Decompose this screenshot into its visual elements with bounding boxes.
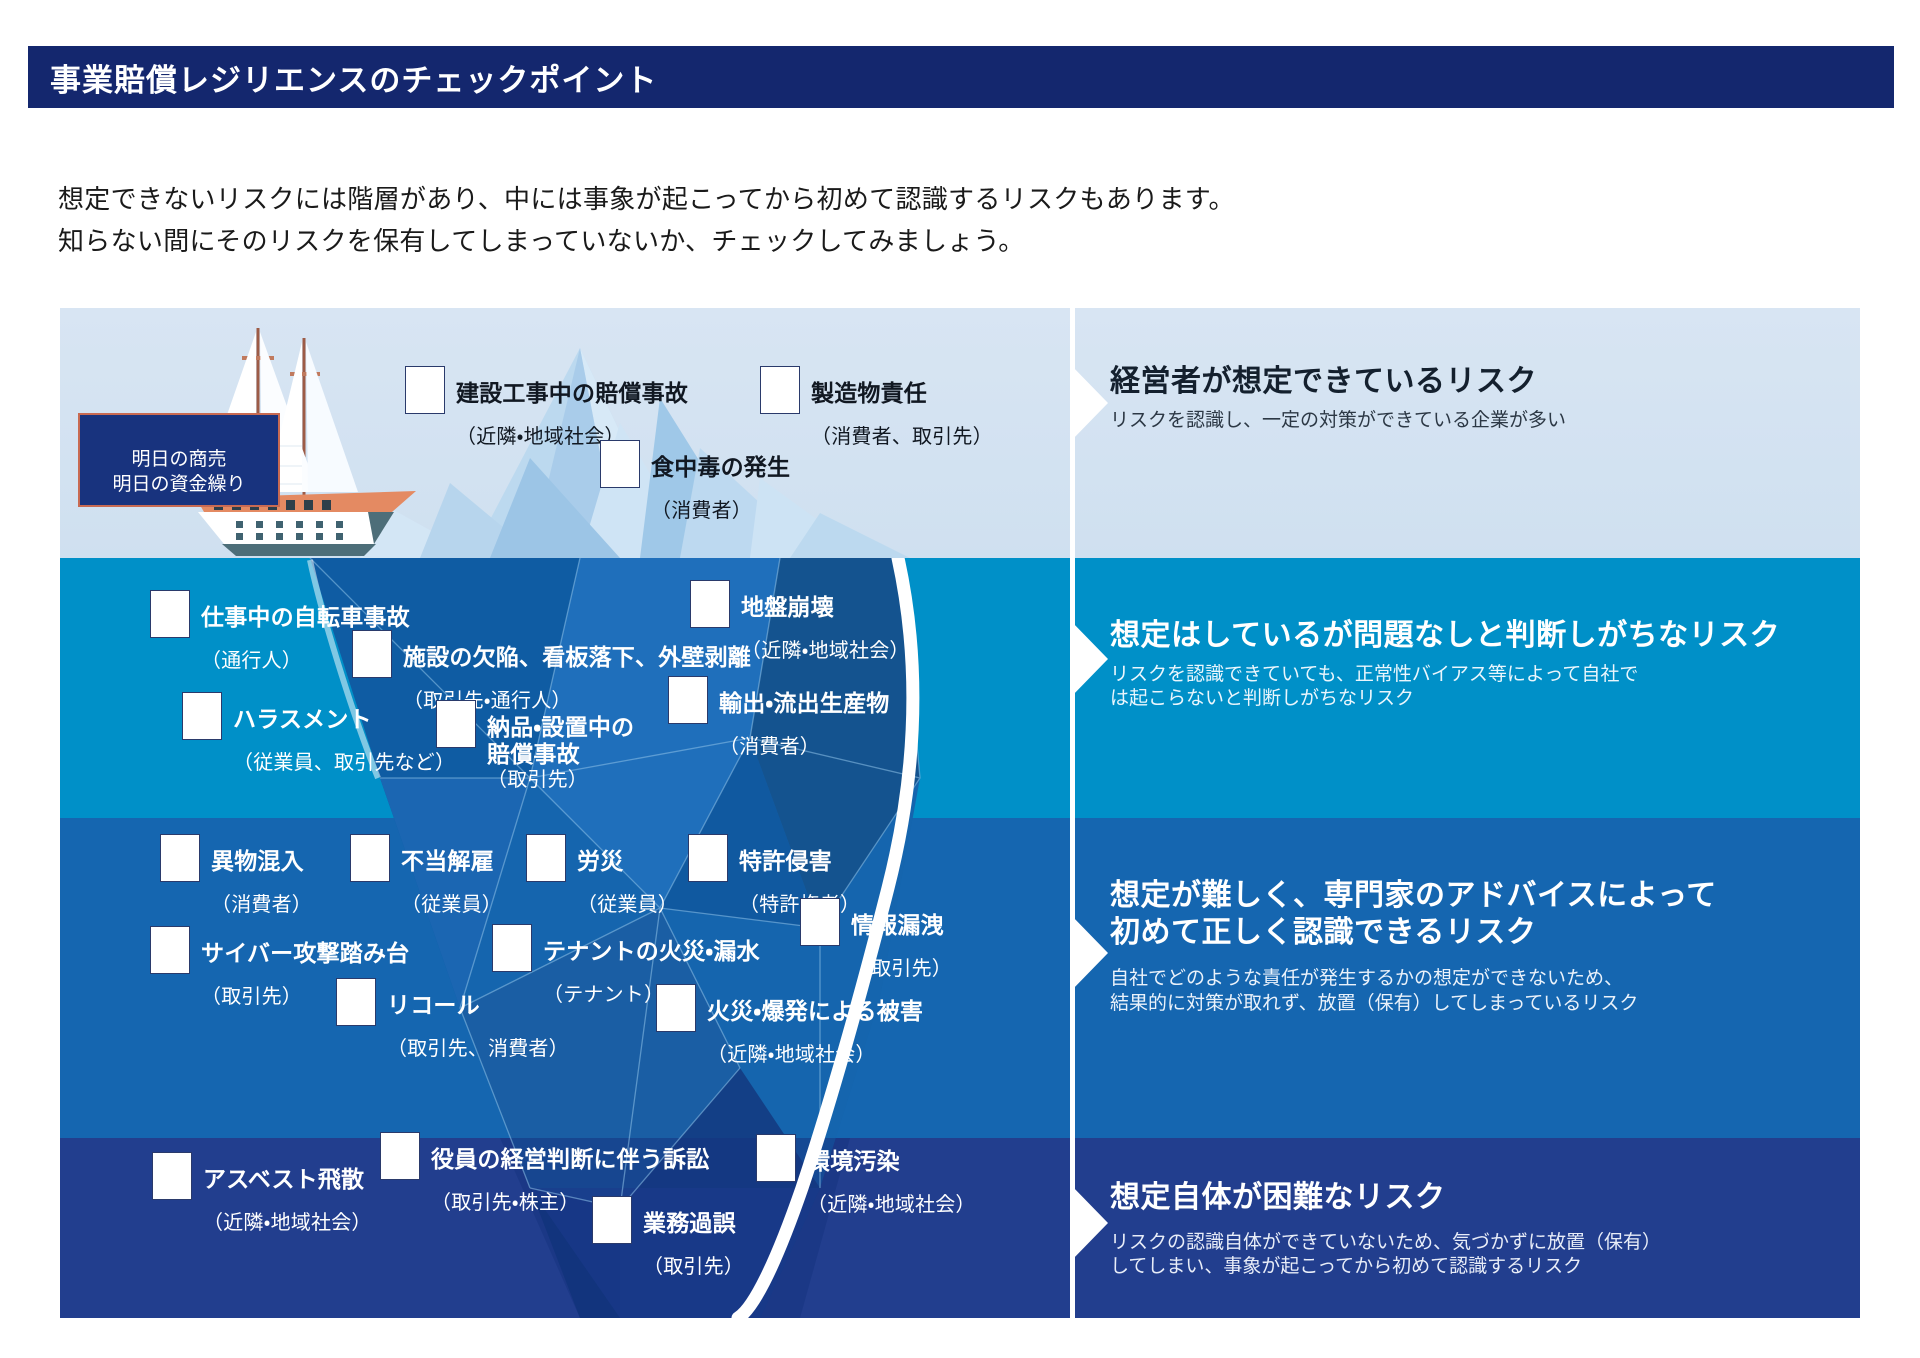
checkbox-item-recall[interactable]: リコール （取引先、消費者） (336, 974, 569, 1062)
item-label: 食中毒の発生 (651, 454, 790, 480)
checkbox-icon[interactable] (160, 834, 200, 882)
item-label: ハラスメント (233, 706, 372, 732)
checkbox-item-export-outflow-products[interactable]: 輸出・流出生産物 （消費者） (668, 672, 889, 760)
item-sublabel: （取引先） (851, 958, 952, 980)
chevron-right-icon (1070, 1184, 1110, 1262)
item-sublabel: （取引先） (487, 769, 588, 791)
checkbox-item-fire-explosion-damage[interactable]: 火災・爆発による被害 （近隣・地域社会） (656, 980, 923, 1068)
intro-text-block: 想定できないリスクには階層があり、中には事象が起こってから初めて認識するリスクも… (58, 178, 1558, 262)
item-label: 情報漏洩 (851, 912, 944, 938)
item-label: 役員の経営判断に伴う訴訟 (431, 1146, 709, 1172)
item-sublabel: （取引先・株主） (431, 1192, 579, 1214)
page-header-bar: 事業賠償レジリエンスのチェックポイント (28, 46, 1894, 108)
chevron-right-icon (1070, 364, 1110, 442)
tier-description-recognized: 経営者が想定できているリスク リスクを認識し、一定の対策ができている企業が多い (1110, 364, 1850, 433)
intro-line-1: 想定できないリスクには階層があり、中には事象が起こってから初めて認識するリスクも… (58, 178, 1558, 220)
intro-line-2: 知らない間にそのリスクを保有してしまっていないか、チェックしてみましょう。 (58, 220, 1558, 262)
tier-body: 自社でどのような責任が発生するかの想定ができないため、 結果的に対策が取れず、放… (1110, 967, 1850, 1016)
tier-heading: 想定が難しく、専門家のアドバイスによって 初めて正しく認識できるリスク (1110, 878, 1850, 951)
checkbox-icon[interactable] (756, 1134, 796, 1182)
checkbox-icon[interactable] (380, 1132, 420, 1180)
tier-body: リスクを認識し、一定の対策ができている企業が多い (1110, 409, 1850, 434)
item-label: 業務過誤 (643, 1210, 736, 1236)
checkbox-icon[interactable] (526, 834, 566, 882)
item-sublabel: （取引先） (201, 986, 302, 1008)
item-label: アスベスト飛散 (203, 1166, 364, 1192)
iceberg-risk-diagram: 明日の商売 明日の資金繰り 建設工事中の賠償事故 （近隣・地域社会） 製造物責任… (60, 308, 1860, 1318)
item-label: 環境汚染 (807, 1148, 900, 1174)
item-sublabel: （取引先、消費者） (387, 1038, 569, 1060)
item-sublabel: （近隣・地域社会） (707, 1044, 876, 1066)
checkbox-icon[interactable] (350, 834, 390, 882)
ship-banner-text: 明日の商売 明日の資金繰り (112, 449, 245, 496)
item-label: テナントの火災・漏水 (543, 938, 760, 964)
item-label: 不当解雇 (401, 848, 494, 874)
checkbox-item-information-leak[interactable]: 情報漏洩 （取引先） (800, 894, 952, 982)
chevron-right-icon (1070, 620, 1110, 698)
tier-description-unimaginable: 想定自体が困難なリスク リスクの認識自体ができていないため、気づかずに放置（保有… (1110, 1180, 1850, 1280)
chevron-right-icon (1070, 914, 1110, 992)
item-label: リコール (387, 992, 480, 1018)
checkbox-icon[interactable] (150, 590, 190, 638)
checkbox-icon[interactable] (152, 1152, 192, 1200)
checkbox-item-ground-collapse[interactable]: 地盤崩壊 （近隣・地域社会） (690, 576, 910, 664)
checkbox-icon[interactable] (150, 926, 190, 974)
item-sublabel: （消費者） (211, 894, 312, 916)
checkbox-item-asbestos-dispersion[interactable]: アスベスト飛散 （近隣・地域社会） (152, 1148, 372, 1236)
item-sublabel: （取引先） (643, 1256, 744, 1278)
checkbox-icon[interactable] (352, 630, 392, 678)
item-sublabel: （近隣・地域社会） (203, 1212, 372, 1234)
item-sublabel: （消費者、取引先） (811, 426, 993, 448)
checkbox-item-delivery-installation-accident[interactable]: 納品・設置中の 賠償事故 （取引先） (436, 696, 634, 793)
checkbox-icon[interactable] (690, 580, 730, 628)
checkbox-icon[interactable] (492, 924, 532, 972)
checkbox-icon[interactable] (760, 366, 800, 414)
tier-description-underestimated: 想定はしているが問題なしと判断しがちなリスク リスクを認識できていても、正常性バ… (1110, 618, 1850, 712)
item-label: 労災 (577, 848, 623, 874)
item-sublabel: （従業員） (401, 894, 502, 916)
page-title: 事業賠償レジリエンスのチェックポイント (28, 55, 657, 100)
ship-banner: 明日の商売 明日の資金繰り (78, 413, 280, 507)
item-label: 納品・設置中の 賠償事故 (487, 714, 634, 767)
checkbox-item-foreign-matter[interactable]: 異物混入 （消費者） (160, 830, 312, 918)
checkbox-item-food-poisoning[interactable]: 食中毒の発生 （消費者） (600, 436, 790, 524)
item-sublabel: （従業員） (577, 894, 678, 916)
item-label: 異物混入 (211, 848, 304, 874)
item-sublabel: （消費者） (651, 500, 752, 522)
item-label: 火災・爆発による被害 (707, 998, 923, 1024)
item-label: 特許侵害 (739, 848, 832, 874)
item-sublabel: （近隣・地域社会） (807, 1194, 976, 1216)
item-sublabel: （近隣・地域社会） (741, 640, 910, 662)
item-label: 製造物責任 (811, 380, 927, 406)
tier-description-expert-needed: 想定が難しく、専門家のアドバイスによって 初めて正しく認識できるリスク 自社でど… (1110, 878, 1850, 1017)
checkbox-icon[interactable] (336, 978, 376, 1026)
checkbox-icon[interactable] (668, 676, 708, 724)
tier-body: リスクの認識自体ができていないため、気づかずに放置（保有） してしまい、事象が起… (1110, 1231, 1850, 1280)
item-label: 輸出・流出生産物 (719, 690, 889, 716)
checkbox-icon[interactable] (405, 366, 445, 414)
tier-body: リスクを認識できていても、正常性バイアス等によって自社で は起こらないと判断しが… (1110, 663, 1850, 712)
item-label: 地盤崩壊 (741, 594, 834, 620)
checkbox-item-product-liability[interactable]: 製造物責任 （消費者、取引先） (760, 362, 993, 450)
checkbox-icon[interactable] (182, 692, 222, 740)
item-label: サイバー攻撃踏み台 (201, 940, 409, 966)
item-sublabel: （従業員、取引先など） (233, 752, 455, 774)
checkbox-icon[interactable] (800, 898, 840, 946)
checkbox-item-unfair-dismissal[interactable]: 不当解雇 （従業員） (350, 830, 502, 918)
tier-heading: 想定はしているが問題なしと判断しがちなリスク (1110, 618, 1850, 655)
tier-heading: 経営者が想定できているリスク (1110, 364, 1850, 401)
checkbox-item-environmental-pollution[interactable]: 環境汚染 （近隣・地域社会） (756, 1130, 976, 1218)
item-sublabel: （通行人） (201, 650, 302, 672)
tier-heading: 想定自体が困難なリスク (1110, 1180, 1850, 1217)
checkbox-icon[interactable] (592, 1196, 632, 1244)
checkbox-icon[interactable] (600, 440, 640, 488)
checkbox-item-professional-negligence[interactable]: 業務過誤 （取引先） (592, 1192, 744, 1280)
checkbox-item-harassment[interactable]: ハラスメント （従業員、取引先など） (182, 688, 455, 776)
checkbox-icon[interactable] (656, 984, 696, 1032)
item-label: 建設工事中の賠償事故 (456, 380, 688, 406)
checkbox-icon[interactable] (436, 700, 476, 748)
checkbox-icon[interactable] (688, 834, 728, 882)
item-sublabel: （消費者） (719, 736, 820, 758)
checkbox-item-work-accident[interactable]: 労災 （従業員） (526, 830, 678, 918)
